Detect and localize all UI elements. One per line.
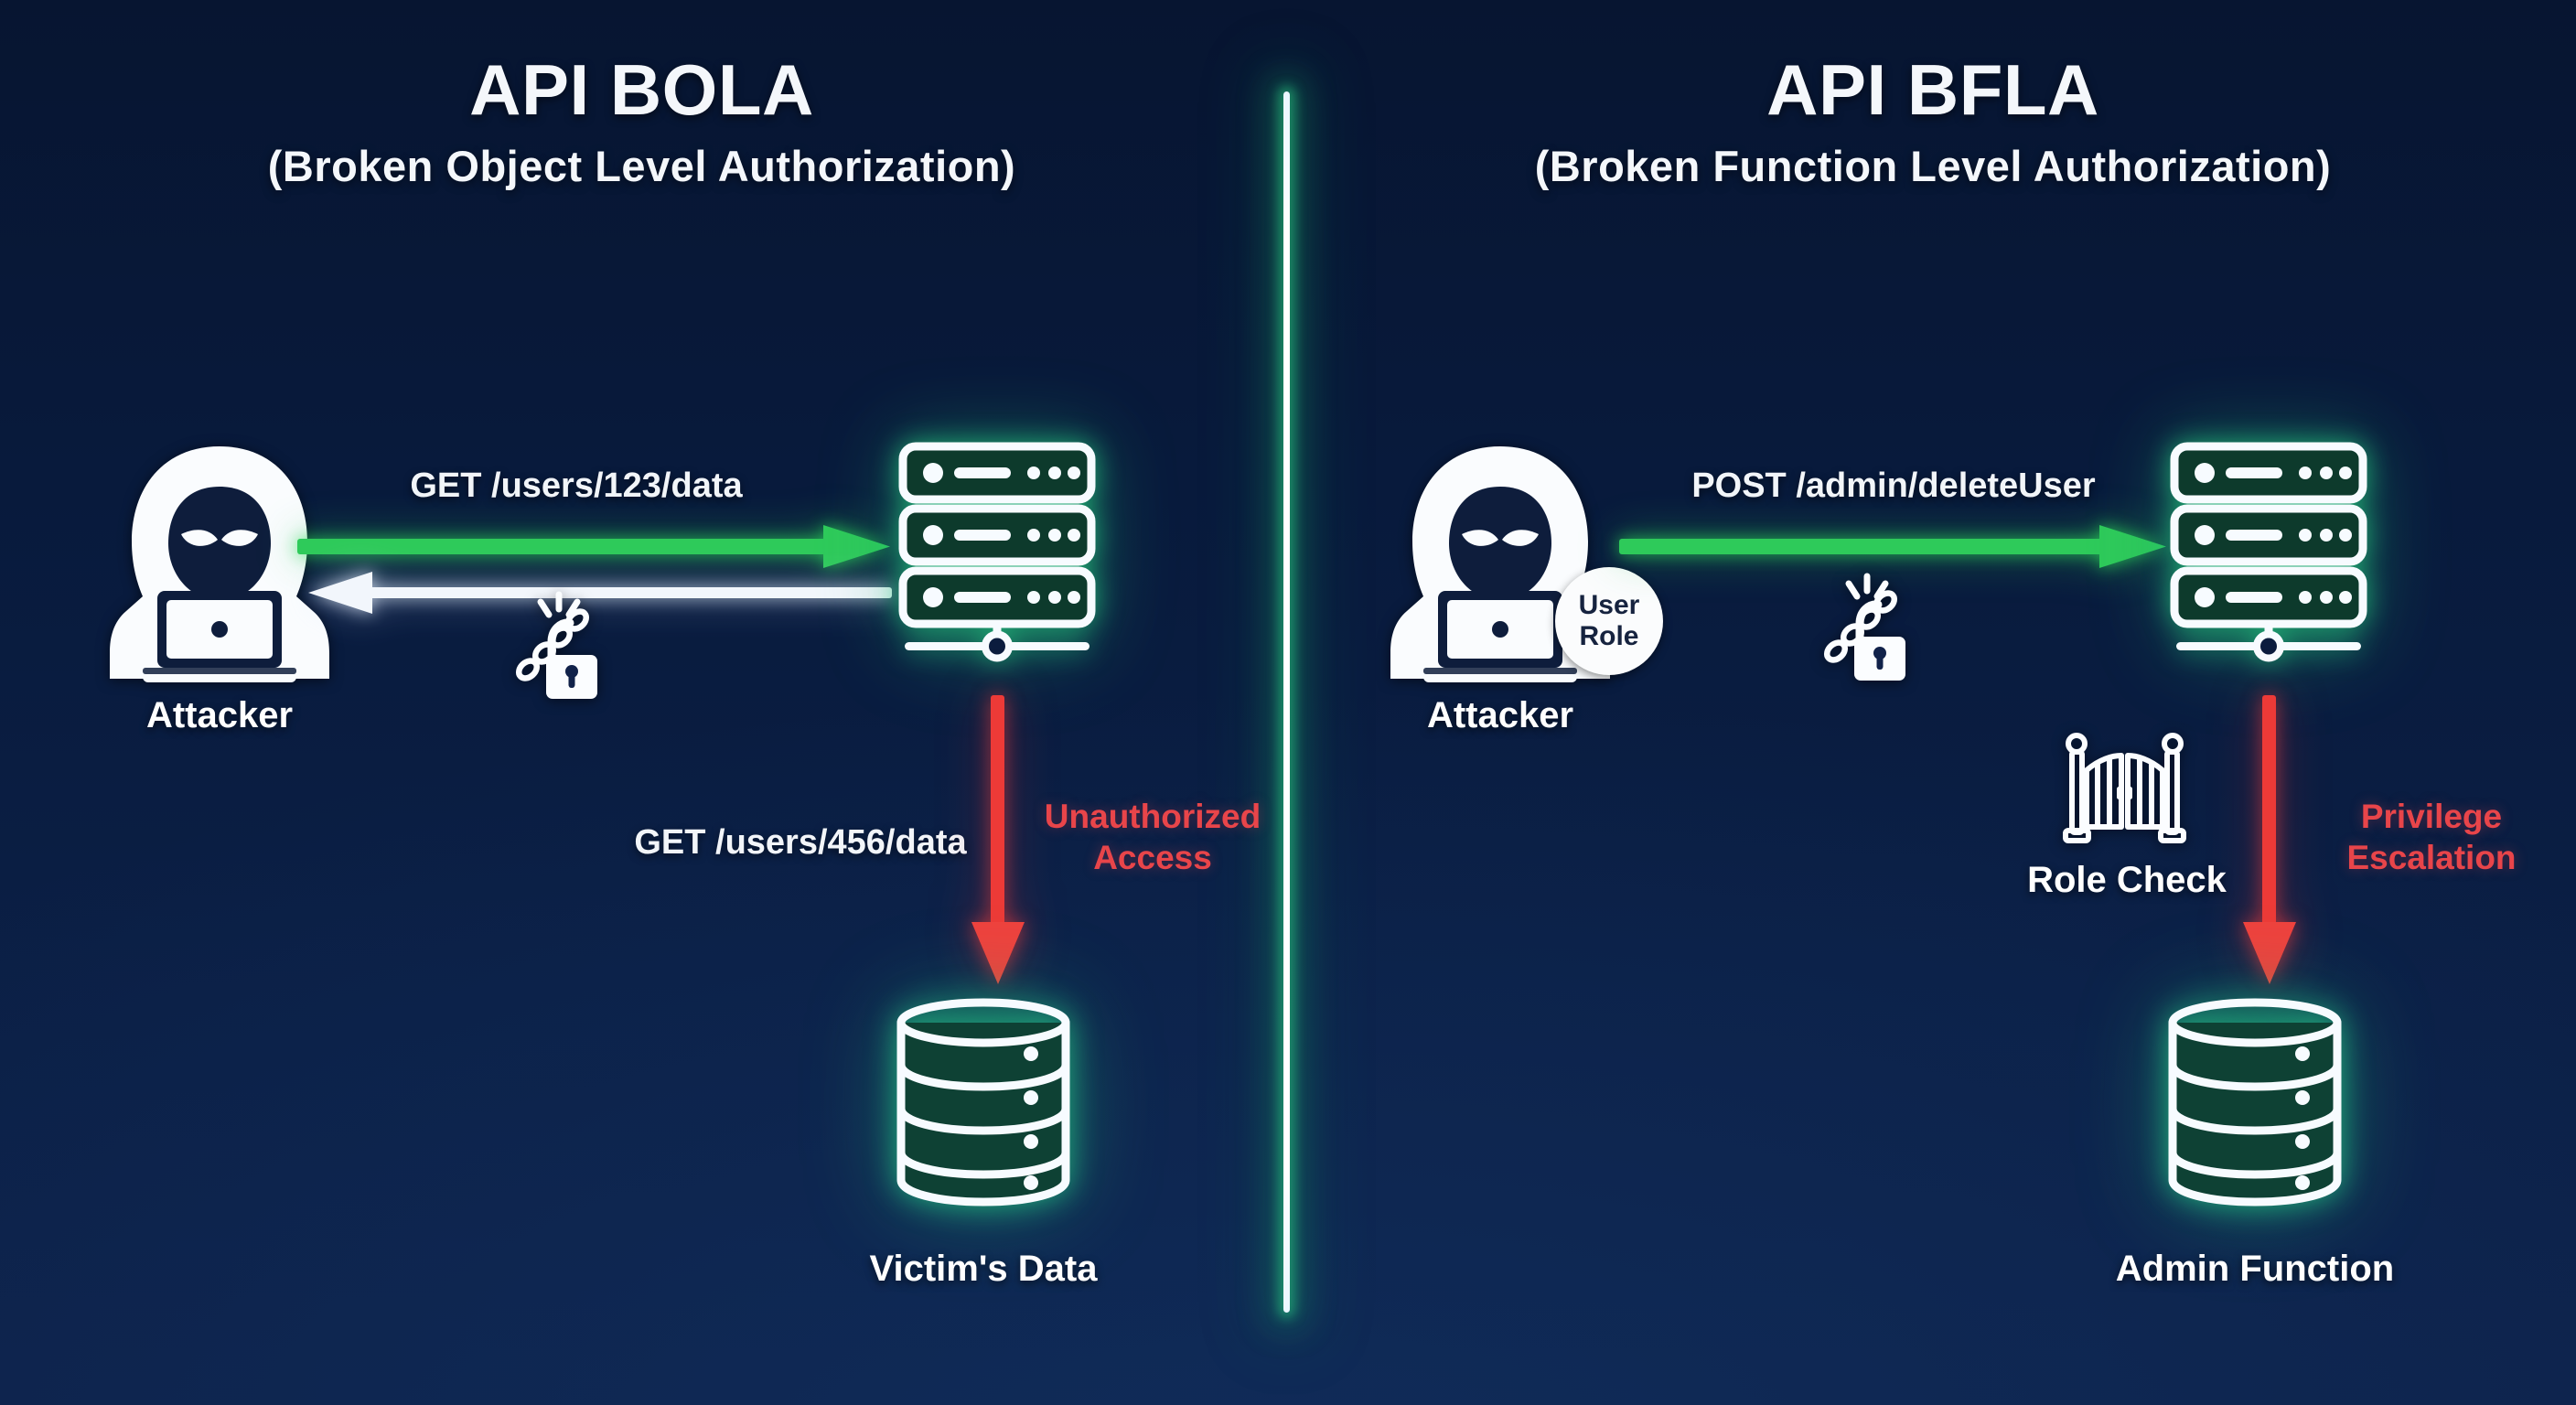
request-label-bola: GET /users/123/data [274,467,878,506]
admin-function-label: Admin Function [2072,1249,2438,1290]
unauthorized-line1: Unauthorized [1045,798,1261,835]
diagram-canvas: API BOLA (Broken Object Level Authorizat… [0,0,2576,1405]
database-cylinder-icon [892,997,1075,1207]
gate-fence-icon [2063,732,2186,851]
broken-lock-icon-bfla [1816,567,1935,686]
user-role-line1: User [1579,590,1640,621]
privilege-line2: Escalation [2346,839,2516,876]
second-request-label-bola: GET /users/456/data [563,823,1038,863]
server-rack-icon [2163,439,2374,668]
panel-title-bola: API BOLA (Broken Object Level Authorizat… [0,46,1283,199]
bola-subtitle: (Broken Object Level Authorization) [0,134,1283,199]
broken-lock-chain-icon [508,585,627,704]
panel-divider [1283,91,1290,1313]
request-label-bfla: POST /admin/deleteUser [1637,467,2150,506]
broken-lock-chain-icon [1816,567,1935,686]
server-rack-icon [892,439,1102,668]
server-icon-bfla [2163,439,2374,668]
privilege-escalation-label: Privilege Escalation [2287,796,2576,878]
database-icon-bfla [2163,997,2346,1207]
server-icon-bola [892,439,1102,668]
role-check-gate-icon [2063,732,2186,851]
user-role-line2: Role [1579,621,1638,652]
database-icon-bola [892,997,1075,1207]
privilege-line1: Privilege [2361,798,2502,835]
attacker-label-bola: Attacker [55,695,384,736]
panel-title-bfla: API BFLA (Broken Function Level Authoriz… [1290,46,2576,199]
broken-lock-icon-bola [508,585,627,704]
request-arrow-bola [297,521,892,573]
user-role-badge: User Role [1555,567,1663,675]
bfla-subtitle: (Broken Function Level Authorization) [1290,134,2576,199]
bola-title: API BOLA [0,46,1283,134]
database-cylinder-icon [2163,997,2346,1207]
victim-data-label: Victim's Data [819,1249,1148,1290]
unauthorized-access-label: Unauthorized Access [1015,796,1290,878]
unauthorized-line2: Access [1093,839,1212,876]
bfla-title: API BFLA [1290,46,2576,134]
request-arrow-bfla [1619,521,2168,573]
attacker-label-bfla: Attacker [1336,695,1665,736]
